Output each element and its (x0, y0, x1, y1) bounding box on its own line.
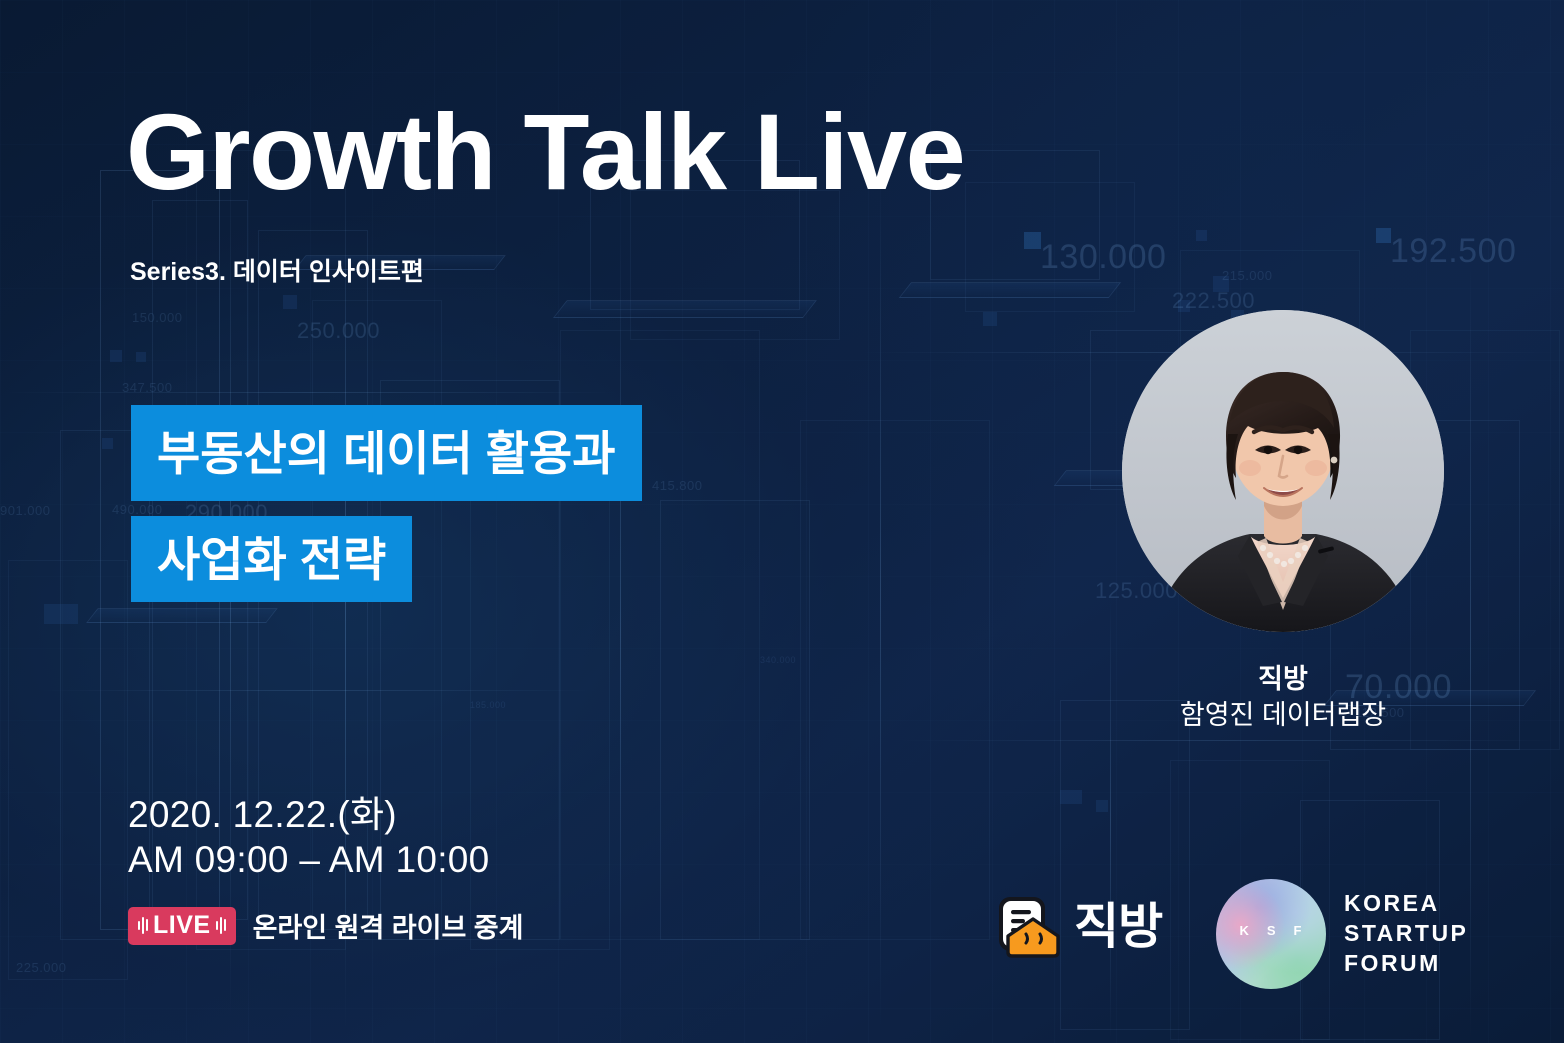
live-broadcast-row: LIVE 온라인 원격 라이브 중계 (128, 906, 523, 945)
series-subtitle: Series3. 데이터 인사이트편 (130, 252, 424, 288)
background-number-4: 250.000 (297, 318, 380, 344)
zigbang-house-icon (996, 894, 1062, 960)
speaker-portrait (1122, 310, 1444, 632)
live-badge-label: LIVE (153, 913, 211, 938)
background-number-16: 185.000 (470, 700, 506, 710)
poster-canvas: 130.000192.500222.500215.000250.000150.0… (0, 0, 1564, 1043)
background-number-8: 901.000 (0, 503, 51, 518)
korea-startup-forum-logo: K S F KOREA STARTUP FORUM (1216, 879, 1468, 989)
event-time: AM 09:00 – AM 10:00 (128, 837, 490, 882)
background-number-9: 490.000 (112, 502, 163, 517)
speaker-info: 직방 함영진 데이터랩장 (1122, 662, 1444, 733)
audio-wave-icon-right (216, 915, 226, 935)
topic-highlight-line-1: 부동산의 데이터 활용과 (131, 405, 642, 501)
zigbang-logo: 직방 (996, 894, 1162, 960)
ksf-sphere-letters: K S F (1216, 923, 1326, 938)
ksf-line-1: KOREA (1344, 889, 1468, 919)
ksf-line-2: STARTUP (1344, 919, 1468, 949)
speaker-photo-illustration (1122, 310, 1444, 632)
ksf-wordmark: KOREA STARTUP FORUM (1344, 889, 1468, 979)
ksf-sphere-icon: K S F (1216, 879, 1326, 989)
page-title: Growth Talk Live (126, 98, 964, 206)
background-number-15: 225.000 (16, 960, 67, 975)
background-number-0: 130.000 (1040, 238, 1166, 277)
series-label: Series3. (130, 258, 226, 286)
live-badge: LIVE (128, 907, 236, 945)
event-date: 2020. 12.22.(화) (128, 792, 490, 837)
zigbang-wordmark: 직방 (1074, 903, 1162, 952)
background-number-11: 415.800 (652, 478, 703, 493)
ksf-letter-s: S (1267, 923, 1277, 938)
ksf-line-3: FORUM (1344, 949, 1468, 979)
topic-highlight-line-2: 사업화 전략 (131, 516, 412, 602)
background-number-1: 192.500 (1390, 232, 1516, 271)
speaker-organization: 직방 (1122, 662, 1444, 698)
ksf-letter-k: K (1239, 923, 1249, 938)
background-number-5: 150.000 (132, 310, 183, 325)
background-number-6: 347.500 (122, 380, 173, 395)
audio-wave-icon-left (138, 915, 148, 935)
ksf-letter-f: F (1294, 923, 1303, 938)
series-topic: 데이터 인사이트편 (233, 258, 424, 286)
speaker-name-title: 함영진 데이터랩장 (1122, 698, 1444, 734)
schedule-block: 2020. 12.22.(화) AM 09:00 – AM 10:00 (128, 792, 490, 882)
broadcast-note: 온라인 원격 라이브 중계 (253, 906, 524, 945)
background-number-17: 340.000 (760, 655, 796, 665)
background-number-3: 215.000 (1222, 268, 1273, 283)
